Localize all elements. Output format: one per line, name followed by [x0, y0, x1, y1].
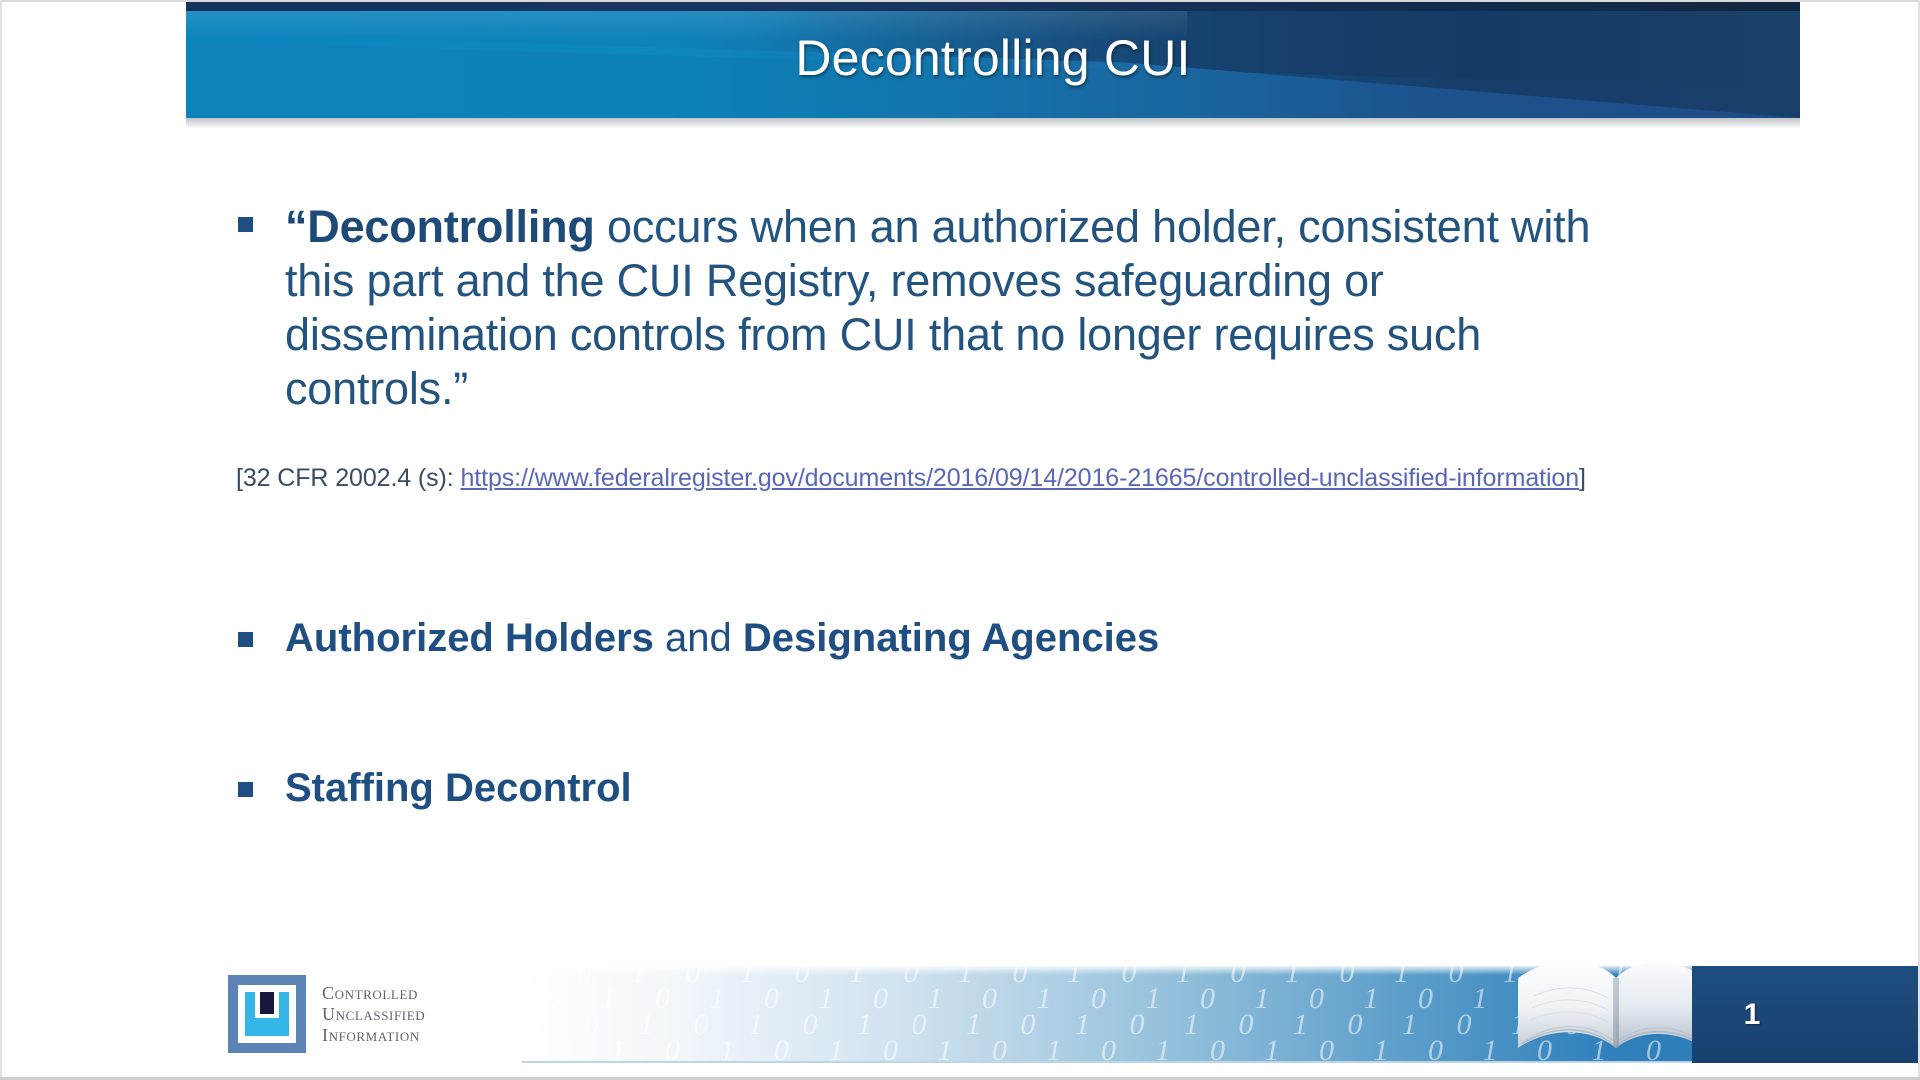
citation-block: [32 CFR 2002.4 (s): https://www.federalr…: [236, 460, 1586, 497]
slide-frame-left: [0, 0, 2, 1080]
conjunction-and: and: [654, 616, 743, 660]
staffing-decontrol-label: Staffing Decontrol: [285, 765, 632, 811]
header-drop-shadow: [186, 118, 1800, 128]
slide-footer: 1 0 1 0 1 0 1 0 1 0 1 0 1 0 1 0 1 0 1 0 …: [2, 952, 1918, 1077]
federal-register-link[interactable]: https://www.federalregister.gov/document…: [460, 464, 1579, 492]
designating-agencies-label: Designating Agencies: [743, 616, 1159, 660]
square-bullet-icon: [238, 217, 253, 232]
bullet-staffing-decontrol: Staffing Decontrol: [238, 765, 1638, 811]
citation-prefix: [32 CFR 2002.4 (s):: [236, 464, 460, 492]
authorized-holders-line: Authorized Holders and Designating Agenc…: [285, 615, 1159, 661]
bullet-authorized-holders: Authorized Holders and Designating Agenc…: [238, 615, 1638, 661]
page-number: 1: [1692, 966, 1812, 1063]
slide-title: Decontrolling CUI: [186, 2, 1800, 118]
slide-canvas: Decontrolling CUI “Decontrolling occurs …: [0, 0, 1920, 1080]
logo-center-block: [260, 992, 274, 1014]
quote-paragraph: “Decontrolling occurs when an authorized…: [285, 200, 1658, 416]
square-bullet-icon: [238, 782, 253, 797]
citation-suffix: ]: [1579, 464, 1586, 492]
authorized-holders-label: Authorized Holders: [285, 616, 654, 660]
cui-logo-mark-icon: [228, 975, 306, 1053]
quote-lead-word: “Decontrolling: [285, 201, 595, 252]
square-bullet-icon: [238, 632, 253, 647]
bullet-quote: “Decontrolling occurs when an authorized…: [238, 200, 1658, 416]
open-book-icon: [1512, 952, 1722, 1070]
logo-line-information: Information: [322, 1025, 425, 1046]
logo-line-controlled: Controlled: [322, 983, 425, 1004]
cui-logo: Controlled Unclassified Information: [228, 975, 425, 1053]
logo-line-unclassified: Unclassified: [322, 1004, 425, 1025]
page-number-panel: 1: [1692, 966, 1918, 1063]
cui-logo-wordmark: Controlled Unclassified Information: [322, 983, 425, 1046]
slide-header-banner: Decontrolling CUI: [186, 2, 1800, 118]
